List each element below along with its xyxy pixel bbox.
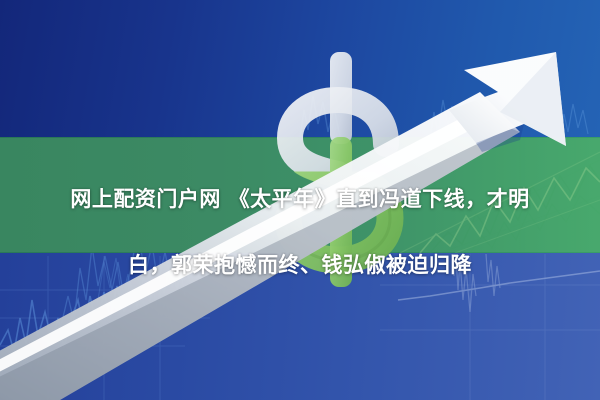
article-banner-image: 网上配资门户网 《太平年》直到冯道下线，才明 白，郭荣抱憾而终、钱弘俶被迫归降: [0, 0, 600, 400]
page-title: 网上配资门户网 《太平年》直到冯道下线，才明 白，郭荣抱憾而终、钱弘俶被迫归降: [0, 150, 600, 282]
headline-line-2: 白，郭荣抱憾而终、钱弘俶被迫归降: [128, 253, 472, 277]
headline-line-1: 网上配资门户网 《太平年》直到冯道下线，才明: [70, 187, 529, 211]
